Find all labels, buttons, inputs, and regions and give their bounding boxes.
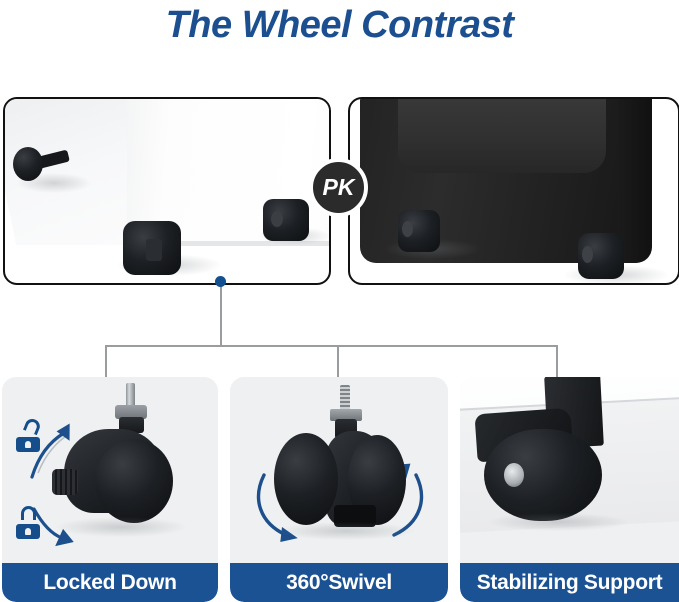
caster-shadow bbox=[278, 522, 414, 540]
caster-wheel bbox=[95, 439, 173, 523]
caster-shadow bbox=[56, 517, 186, 537]
unlock-icon bbox=[16, 429, 40, 452]
caster-hub bbox=[271, 211, 283, 227]
fixed-caster-illustration bbox=[460, 377, 679, 563]
caster-hub bbox=[402, 221, 413, 237]
connector-horizontal-bracket bbox=[105, 345, 558, 347]
locking-caster-illustration bbox=[2, 377, 218, 563]
connector-origin-dot bbox=[215, 276, 226, 287]
black-cabinet-drawer-inset bbox=[398, 97, 606, 173]
swivel-caster-illustration bbox=[230, 377, 448, 563]
comparison-panel-white bbox=[3, 97, 331, 285]
connector-vertical-stem bbox=[220, 284, 222, 346]
caster-brake-lever bbox=[52, 469, 78, 495]
feature-panel-stabilizing: Stabilizing Support bbox=[460, 377, 679, 602]
feature-label-text: Locked Down bbox=[43, 571, 176, 595]
white-cab-caster-front-right bbox=[263, 199, 309, 241]
feature-label-text: Stabilizing Support bbox=[477, 571, 663, 595]
feature-label-bar-locked-down: Locked Down bbox=[2, 563, 218, 602]
caster-axle-cap bbox=[504, 463, 524, 487]
feature-label-bar-stabilizing: Stabilizing Support bbox=[460, 563, 679, 602]
caster-wheel-left bbox=[274, 433, 338, 525]
lock-icon bbox=[16, 516, 40, 539]
feature-panel-swivel: 360°Swivel bbox=[230, 377, 448, 602]
feature-label-text: 360°Swivel bbox=[286, 571, 392, 595]
caster-shadow bbox=[488, 513, 628, 531]
connector-drop-right bbox=[556, 345, 558, 378]
caster-threaded-stem bbox=[340, 385, 350, 411]
white-cab-caster-rear bbox=[13, 147, 43, 181]
black-cabinet-side-panel bbox=[618, 97, 652, 263]
caster-hub bbox=[146, 239, 162, 261]
caster-threaded-stem bbox=[126, 383, 135, 407]
pk-versus-badge: PK bbox=[309, 158, 368, 217]
connector-drop-middle bbox=[337, 345, 339, 378]
connector-drop-left bbox=[105, 345, 107, 378]
feature-panel-locked-down: Locked Down bbox=[2, 377, 218, 602]
page-title: The Wheel Contrast bbox=[0, 4, 679, 47]
comparison-panel-black bbox=[348, 97, 679, 285]
feature-label-bar-swivel: 360°Swivel bbox=[230, 563, 448, 602]
caster-hub bbox=[582, 246, 593, 263]
pk-badge-label: PK bbox=[323, 174, 355, 201]
caster-wheel bbox=[484, 429, 602, 521]
page-root: The Wheel Contrast PK bbox=[0, 0, 679, 602]
